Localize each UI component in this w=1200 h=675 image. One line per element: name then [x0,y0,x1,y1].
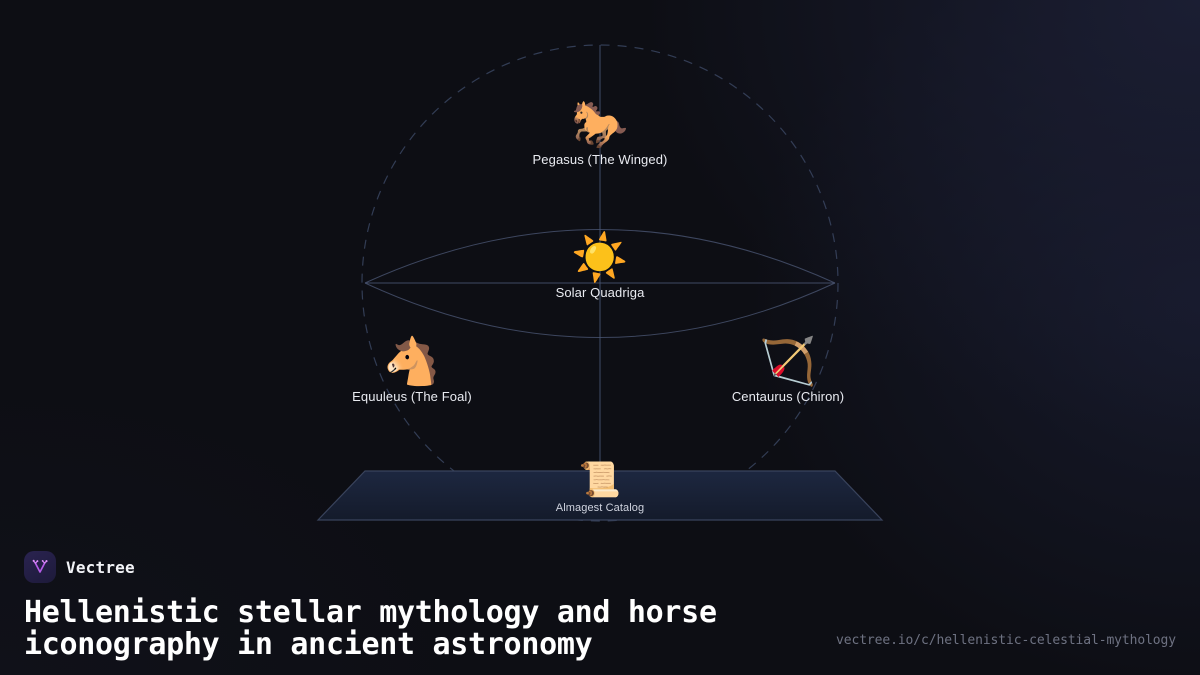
brand-name: Vectree [66,558,135,577]
horse-face-icon: 🐴 [297,335,527,387]
diagram-node-solar-quadriga[interactable]: ☀️ Solar Quadriga [485,231,715,301]
brand-row: Vectree [24,551,1176,583]
node-label: Equuleus (The Foal) [297,389,527,405]
node-label: Solar Quadriga [485,285,715,301]
diagram-node-almagest-catalog[interactable]: 📜 Almagest Catalog [485,461,715,516]
source-url: vectree.io/c/hellenistic-celestial-mytho… [836,633,1176,648]
node-label: Centaurus (Chiron) [673,389,903,405]
node-label: Almagest Catalog [485,500,715,516]
page-title: Hellenistic stellar mythology and horse … [24,597,784,661]
node-label: Pegasus (The Winged) [485,152,715,168]
diagram-node-equuleus[interactable]: 🐴 Equuleus (The Foal) [297,335,527,405]
bow-and-arrow-icon: 🏹 [673,335,903,387]
diagram-node-pegasus[interactable]: 🐎 Pegasus (The Winged) [485,98,715,168]
diagram-node-centaurus[interactable]: 🏹 Centaurus (Chiron) [673,335,903,405]
scroll-icon: 📜 [485,461,715,499]
sun-icon: ☀️ [485,231,715,283]
vectree-logo-icon [24,551,56,583]
footer: Vectree Hellenistic stellar mythology an… [0,551,1200,675]
horse-running-icon: 🐎 [485,98,715,150]
screenshot-canvas: 🐎 Pegasus (The Winged) ☀️ Solar Quadriga… [0,0,1200,675]
